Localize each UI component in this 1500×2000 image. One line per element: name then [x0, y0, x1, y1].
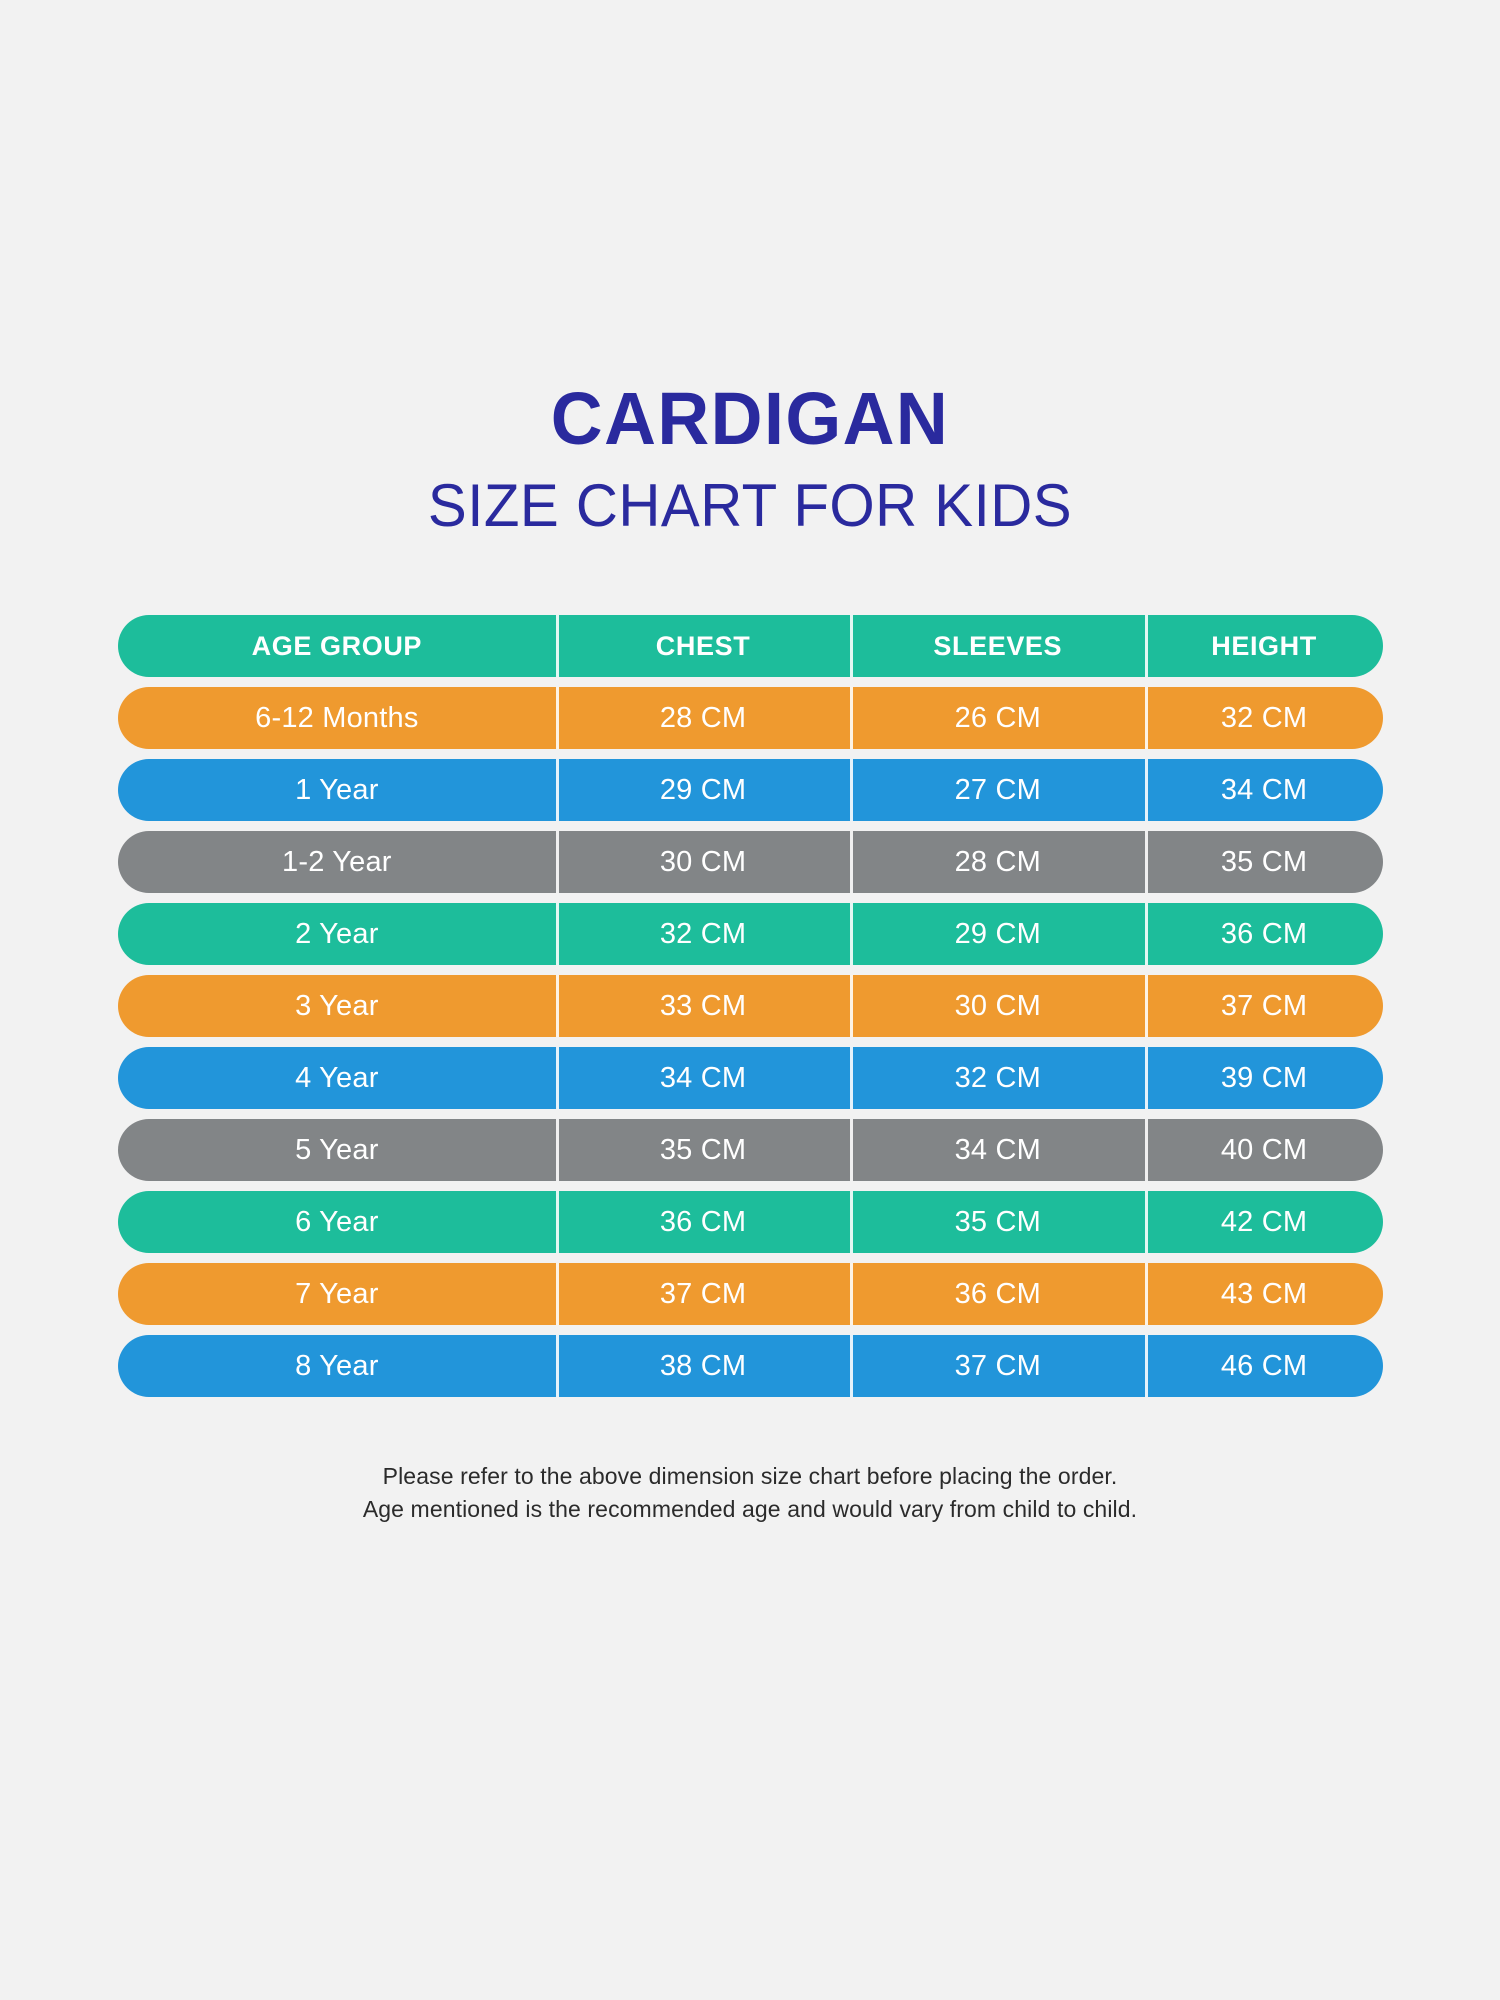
cell-chest: 29 CM [556, 759, 851, 821]
cell-sleeves: 27 CM [850, 759, 1145, 821]
cell-height: 34 CM [1145, 759, 1383, 821]
cell-age: 1 Year [118, 759, 556, 821]
footer-line-1: Please refer to the above dimension size… [0, 1460, 1500, 1493]
table-row: 8 Year38 CM37 CM46 CM [118, 1335, 1383, 1397]
cell-height: 39 CM [1145, 1047, 1383, 1109]
cell-chest: 32 CM [556, 903, 851, 965]
column-header-sleeves: SLEEVES [850, 615, 1145, 677]
cell-sleeves: 37 CM [850, 1335, 1145, 1397]
page-title: CARDIGAN [23, 382, 1478, 456]
footer-line-2: Age mentioned is the recommended age and… [0, 1493, 1500, 1526]
size-chart-page: CARDIGAN SIZE CHART FOR KIDS AGE GROUP C… [0, 0, 1500, 2000]
cell-sleeves: 32 CM [850, 1047, 1145, 1109]
cell-age: 5 Year [118, 1119, 556, 1181]
table-row: 1 Year29 CM27 CM34 CM [118, 759, 1383, 821]
cell-age: 6-12 Months [118, 687, 556, 749]
cell-sleeves: 30 CM [850, 975, 1145, 1037]
cell-age: 2 Year [118, 903, 556, 965]
table-row: 2 Year32 CM29 CM36 CM [118, 903, 1383, 965]
table-row: 5 Year35 CM34 CM40 CM [118, 1119, 1383, 1181]
table-row: 1-2 Year30 CM28 CM35 CM [118, 831, 1383, 893]
column-header-chest: CHEST [556, 615, 851, 677]
table-row: 7 Year37 CM36 CM43 CM [118, 1263, 1383, 1325]
column-header-age-group: AGE GROUP [118, 615, 556, 677]
cell-height: 32 CM [1145, 687, 1383, 749]
cell-chest: 36 CM [556, 1191, 851, 1253]
cell-age: 7 Year [118, 1263, 556, 1325]
table-row: 6-12 Months28 CM26 CM32 CM [118, 687, 1383, 749]
cell-height: 42 CM [1145, 1191, 1383, 1253]
cell-sleeves: 28 CM [850, 831, 1145, 893]
cell-sleeves: 29 CM [850, 903, 1145, 965]
cell-height: 40 CM [1145, 1119, 1383, 1181]
size-chart-table: AGE GROUP CHEST SLEEVES HEIGHT 6-12 Mont… [118, 615, 1383, 1397]
footer-note: Please refer to the above dimension size… [0, 1460, 1500, 1527]
column-header-height: HEIGHT [1145, 615, 1383, 677]
cell-age: 8 Year [118, 1335, 556, 1397]
cell-chest: 33 CM [556, 975, 851, 1037]
table-row: 4 Year34 CM32 CM39 CM [118, 1047, 1383, 1109]
cell-height: 35 CM [1145, 831, 1383, 893]
cell-chest: 28 CM [556, 687, 851, 749]
cell-age: 3 Year [118, 975, 556, 1037]
cell-age: 1-2 Year [118, 831, 556, 893]
cell-height: 37 CM [1145, 975, 1383, 1037]
cell-sleeves: 26 CM [850, 687, 1145, 749]
cell-age: 4 Year [118, 1047, 556, 1109]
table-header-row: AGE GROUP CHEST SLEEVES HEIGHT [118, 615, 1383, 677]
cell-chest: 30 CM [556, 831, 851, 893]
cell-sleeves: 34 CM [850, 1119, 1145, 1181]
cell-chest: 34 CM [556, 1047, 851, 1109]
cell-sleeves: 36 CM [850, 1263, 1145, 1325]
cell-age: 6 Year [118, 1191, 556, 1253]
cell-sleeves: 35 CM [850, 1191, 1145, 1253]
cell-height: 46 CM [1145, 1335, 1383, 1397]
title-block: CARDIGAN SIZE CHART FOR KIDS [0, 382, 1500, 536]
table-body: 6-12 Months28 CM26 CM32 CM1 Year29 CM27 … [118, 687, 1383, 1397]
table-row: 3 Year33 CM30 CM37 CM [118, 975, 1383, 1037]
cell-height: 36 CM [1145, 903, 1383, 965]
cell-chest: 38 CM [556, 1335, 851, 1397]
cell-chest: 35 CM [556, 1119, 851, 1181]
cell-height: 43 CM [1145, 1263, 1383, 1325]
table-row: 6 Year36 CM35 CM42 CM [118, 1191, 1383, 1253]
page-subtitle: SIZE CHART FOR KIDS [23, 476, 1478, 536]
cell-chest: 37 CM [556, 1263, 851, 1325]
